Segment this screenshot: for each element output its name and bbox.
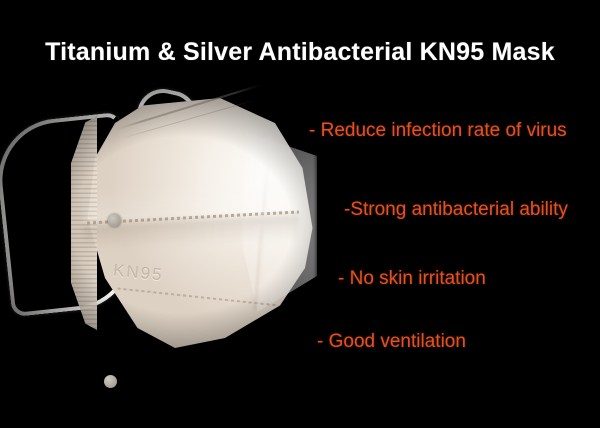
feature-item-reduce-infection: - Reduce infection rate of virus [309, 120, 567, 142]
feature-item-no-irritation: - No skin irritation [338, 268, 486, 290]
feature-item-ventilation: - Good ventilation [317, 331, 466, 353]
mask-body: KN95 [65, 98, 315, 348]
feature-item-antibacterial: -Strong antibacterial ability [344, 199, 568, 221]
kn95-mask-photo: KN95 [0, 80, 330, 370]
ear-loop-weld-bottom-icon [104, 375, 117, 388]
page-title: Titanium & Silver Antibacterial KN95 Mas… [0, 38, 600, 67]
ear-loop-weld-top-icon [108, 214, 121, 227]
product-banner: Titanium & Silver Antibacterial KN95 Mas… [0, 0, 600, 428]
